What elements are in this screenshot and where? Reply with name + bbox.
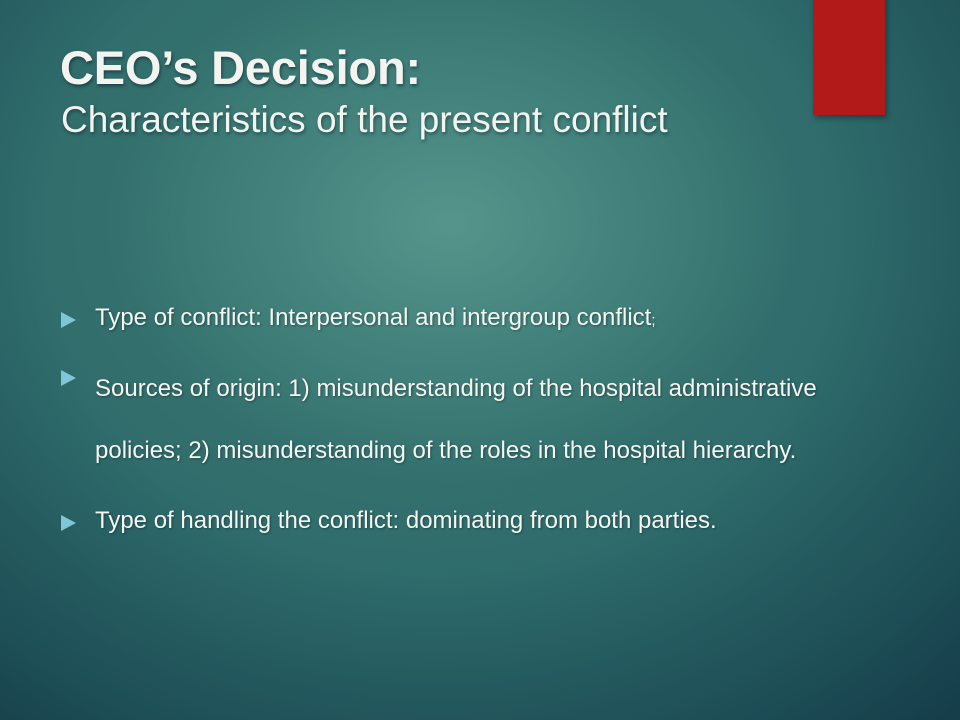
list-item-text: Sources of origin: 1) misunderstanding o… <box>95 358 870 480</box>
red-accent-rectangle <box>813 0 885 115</box>
list-item-text: Type of conflict: Interpersonal and inte… <box>95 300 655 336</box>
list-item: Type of handling the conflict: dominatin… <box>60 503 910 539</box>
list-item-text: Type of handling the conflict: dominatin… <box>95 503 717 539</box>
triangle-right-icon <box>60 300 95 329</box>
list-item: Type of conflict: Interpersonal and inte… <box>60 300 910 336</box>
triangle-right-icon <box>60 358 95 387</box>
triangle-right-icon <box>60 503 95 532</box>
list-item: Sources of origin: 1) misunderstanding o… <box>60 358 910 480</box>
list-item-trailing-punctuation: ; <box>651 312 655 329</box>
slide-title: CEO’s Decision: <box>60 44 820 92</box>
presentation-slide: CEO’s Decision: Characteristics of the p… <box>0 0 960 720</box>
title-block: CEO’s Decision: Characteristics of the p… <box>60 44 820 142</box>
bullet-list: Type of conflict: Interpersonal and inte… <box>60 300 910 539</box>
list-item-text-main: Type of conflict: Interpersonal and inte… <box>95 304 651 331</box>
slide-subtitle: Characteristics of the present conflict <box>61 98 820 142</box>
